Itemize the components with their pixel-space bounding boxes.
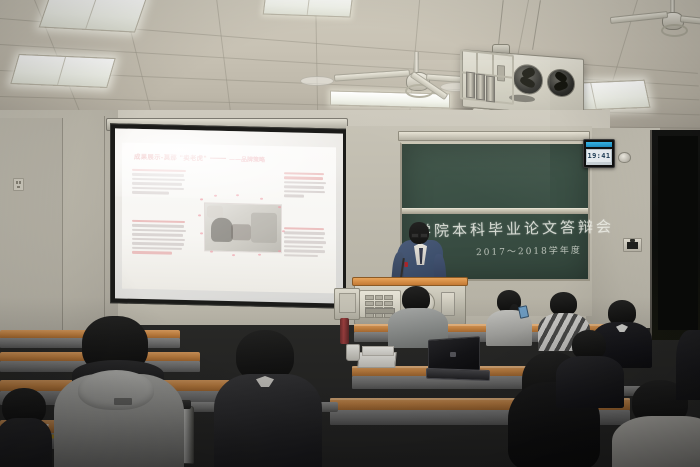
slide-paragraph — [284, 227, 328, 257]
presentation-slide: 成果展示-莫那 "卖老虎" ——品牌策略 — [122, 143, 336, 294]
student-front-left — [54, 316, 184, 467]
clock-header-bar — [586, 142, 612, 147]
slide-paragraph — [132, 220, 188, 255]
paper-stack — [362, 346, 394, 356]
classroom-scene: 成果展示-莫那 "卖老虎" ——品牌策略 — [0, 0, 700, 467]
lectern-top-surface — [352, 277, 468, 286]
slide-title-divider — [210, 158, 226, 159]
wall-seam — [62, 118, 63, 343]
clock-footer-bar — [586, 162, 612, 165]
student-right-edge-partial — [676, 330, 700, 400]
side-console[interactable] — [334, 288, 360, 320]
ceiling-light-panel — [263, 0, 354, 18]
hvac-vent — [547, 68, 575, 98]
slide-title: 成果展示-莫那 "卖老虎" ——品牌策略 — [134, 152, 326, 165]
ceiling-fan — [640, 0, 700, 42]
laptop-base[interactable] — [426, 368, 490, 381]
ceiling-light-panel — [10, 54, 115, 88]
camera-dome-icon — [618, 152, 631, 163]
digital-clock: 19:41 — [583, 139, 615, 168]
student-back-right — [556, 330, 624, 392]
laptop-logo — [450, 352, 456, 357]
hvac-vent — [513, 63, 543, 95]
clock-time: 19:41 — [586, 149, 612, 163]
wall-outlet — [13, 178, 24, 191]
mug — [346, 344, 360, 361]
hoodie-logo-tag — [114, 398, 132, 405]
slide-paragraph — [284, 172, 328, 198]
door-panel[interactable] — [658, 136, 698, 330]
student-torso — [214, 374, 322, 467]
student-front-left-2 — [214, 330, 322, 467]
blackboard-mid-rail — [402, 208, 588, 214]
chalk-text-title: 学院本科毕业论文答辩会 — [416, 216, 614, 242]
slide-text-column-right — [284, 172, 328, 266]
slide-title-main: 成果展示-莫那 "卖老虎" — [134, 152, 207, 163]
slide-text-column-left — [132, 169, 188, 264]
projection-screen-frame: 成果展示-莫那 "卖老虎" ——品牌策略 — [110, 123, 348, 308]
wall-seam — [104, 116, 105, 344]
wall-speaker-icon — [623, 238, 642, 252]
slide-photo — [204, 202, 282, 253]
chalk-text-subtitle: 2017～2018学年度 — [476, 243, 582, 258]
student-far-left-partial — [0, 388, 52, 467]
blackboard-top-trim — [398, 131, 590, 141]
slide-paragraph — [132, 169, 188, 195]
thermos — [340, 318, 349, 344]
student-torso — [0, 418, 52, 467]
student-mid-gray — [388, 286, 448, 336]
slide-columns — [132, 169, 328, 285]
glasses-icon — [411, 233, 426, 236]
ceiling-diffuser — [300, 76, 334, 86]
slide-title-sub: ——品牌策略 — [229, 154, 265, 164]
student-torso — [612, 416, 700, 467]
left-wall-pillar — [0, 118, 62, 343]
projection-screen[interactable]: 成果展示-莫那 "卖老虎" ——品牌策略 — [115, 128, 343, 303]
ceiling-light-panel — [39, 0, 148, 33]
student-torso — [556, 356, 624, 408]
doorway[interactable] — [650, 130, 700, 340]
laptop[interactable] — [426, 338, 488, 380]
